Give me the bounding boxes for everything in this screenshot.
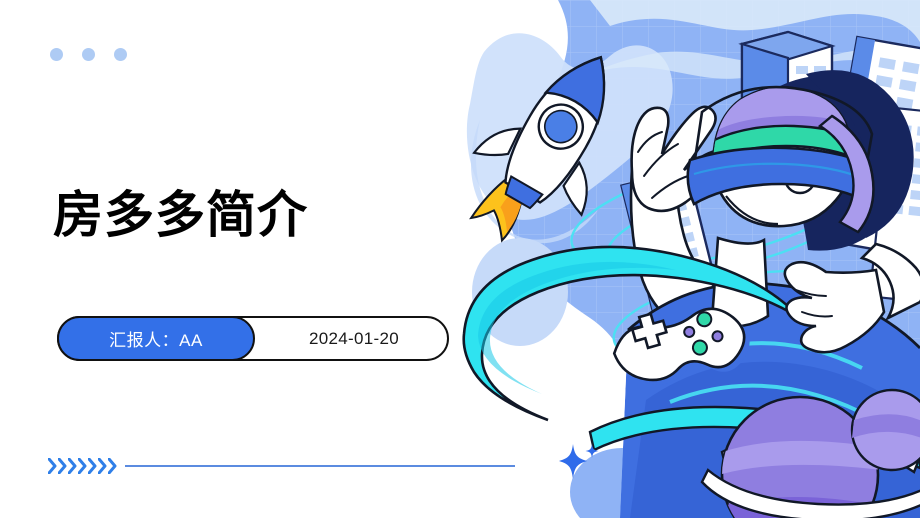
chevron-right-icon-2 [58, 458, 67, 474]
chevron-right-icon-4 [78, 458, 87, 474]
presenter-pill[interactable]: 汇报人：AA [57, 316, 255, 361]
chevron-right-icon-1 [48, 458, 57, 474]
chevron-right-icon-3 [68, 458, 77, 474]
cover-left-panel: 房多多简介 汇报人：AA 2024-01-20 [0, 0, 470, 518]
dot-3 [114, 48, 127, 61]
page-title: 房多多简介 [53, 188, 308, 243]
presenter-label: 汇报人：AA [109, 326, 203, 351]
illustration-artwork [440, 0, 920, 518]
dot-1 [50, 48, 63, 61]
chevron-rule [48, 458, 515, 474]
sparkle-icon [556, 440, 602, 484]
chevron-right-icon-5 [88, 458, 97, 474]
chevron-right-icon-7 [108, 458, 117, 474]
chevron-right-icon-6 [98, 458, 107, 474]
decor-three-dots [50, 48, 127, 61]
date-label: 2024-01-20 [309, 329, 399, 349]
date-pill[interactable]: 2024-01-20 [257, 318, 451, 359]
presenter-date-badge: 汇报人：AA 2024-01-20 [57, 316, 449, 361]
slide-root: 房多多简介 汇报人：AA 2024-01-20 [0, 0, 920, 518]
dot-2 [82, 48, 95, 61]
horizontal-rule [125, 465, 515, 467]
